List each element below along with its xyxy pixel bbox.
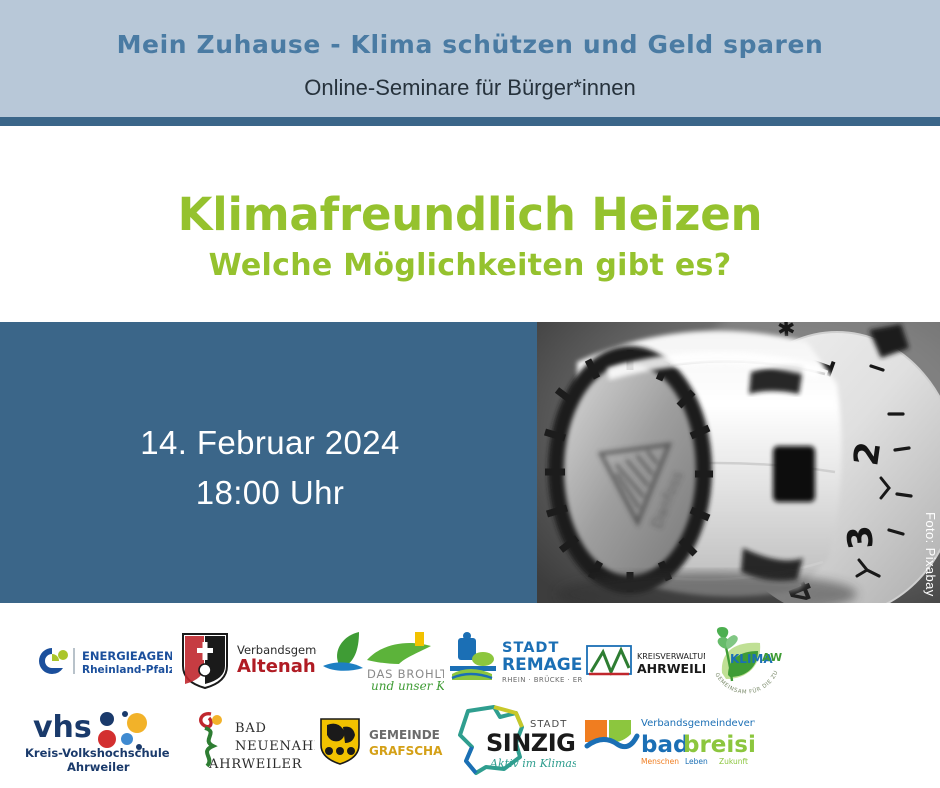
logo-text: SINZIG [486, 729, 575, 757]
logo-row-2: vhs Kreis-Volkshochschule Ahrweiler [18, 701, 786, 781]
event-date-text: 14. Februar 2024 18:00 Uhr [60, 418, 480, 518]
thermostat-photo: ✱ 1 2 3 4 [537, 322, 940, 603]
header-subtitle: Online-Seminare für Bürger*innen [0, 75, 940, 101]
logo-stadt-remagen: STADT REMAGEN RHEIN · BRÜCKE · ERLEBEN [444, 625, 582, 697]
logo-vg-bad-breisig: Verbandsgemeindeverwaltung bad breisig M… [577, 705, 757, 777]
logo-text: REMAGEN [502, 655, 582, 675]
logo-text: AW [762, 651, 782, 664]
logo-text: Zukunft [719, 757, 748, 766]
svg-text:3: 3 [840, 524, 882, 552]
header-title: Mein Zuhause - Klima schützen und Geld s… [0, 30, 940, 59]
logo-text: ENERGIEAGENTUR [82, 649, 172, 663]
logo-text: Verbandsgemeinde [237, 643, 317, 657]
logo-row-1: ENERGIEAGENTUR Rheinland-Pfalz Verbandsg… [18, 621, 786, 701]
logo-text: STADT [502, 640, 559, 656]
logo-text: AHRWEILER [208, 757, 303, 772]
poster: Mein Zuhause - Klima schützen und Geld s… [0, 0, 940, 788]
logo-klima-aw: KLIMA AW GEMEINSAM FÜR DIE ZUKUNFT [705, 625, 786, 697]
event-time: 18:00 Uhr [60, 468, 480, 518]
logo-text: AHRWEILER [637, 661, 705, 676]
logo-text: RHEIN · BRÜCKE · ERLEBEN [502, 675, 582, 684]
seminar-main-title: Klimafreundlich Heizen [0, 188, 940, 241]
logo-das-brohltal: DAS BROHLTAL und unser Klima [318, 625, 444, 697]
logo-text: Rheinland-Pfalz [82, 664, 172, 676]
logo-text: KREISVERWALTUNG [637, 652, 705, 661]
event-date: 14. Februar 2024 [60, 418, 480, 468]
logo-text: Altenahr [237, 656, 317, 677]
logo-text: vhs [33, 710, 92, 745]
logo-stadt-sinzig: STADT SINZIG Aktiv im Klimaschutz [444, 705, 577, 777]
logo-text: breisig [683, 732, 755, 758]
logo-text: Verbandsgemeindeverwaltung [641, 718, 755, 729]
logo-text: GRAFSCHAFT [369, 744, 443, 758]
logo-text: BAD [235, 721, 267, 736]
logo-verbandsgemeinde-altenahr: Verbandsgemeinde Altenahr [176, 625, 319, 697]
logo-text: Kreis-Volkshochschule [25, 746, 170, 760]
title-zone: Klimafreundlich Heizen Welche Möglichkei… [0, 126, 940, 322]
logo-text: Ahrweiler [67, 760, 130, 774]
mid-band: 14. Februar 2024 18:00 Uhr [0, 322, 940, 603]
photo-credit: Foto: Pixabay [923, 512, 938, 597]
seminar-sub-title: Welche Möglichkeiten gibt es? [0, 248, 940, 283]
logo-grid: ENERGIEAGENTUR Rheinland-Pfalz Verbandsg… [18, 621, 786, 781]
logo-vhs-kreis-volkshochschule-ahrweiler: vhs Kreis-Volkshochschule Ahrweiler [18, 705, 181, 777]
logo-text: Leben [685, 757, 708, 766]
header-divider-rule [0, 117, 940, 126]
sponsor-logo-footer: ENERGIEAGENTUR Rheinland-Pfalz Verbandsg… [0, 603, 940, 788]
logo-text: und unser Klima [371, 679, 444, 692]
logo-energieagentur-rheinland-pfalz: ENERGIEAGENTUR Rheinland-Pfalz [18, 625, 176, 697]
logo-text: GEMEINDE [369, 728, 440, 742]
logo-text: Aktiv im Klimaschutz [489, 757, 576, 770]
event-date-panel: 14. Februar 2024 18:00 Uhr [0, 322, 537, 603]
logo-bad-neuenahr-ahrweiler: BAD NEUENAHR AHRWEILER [181, 705, 316, 777]
header-band: Mein Zuhause - Klima schützen und Geld s… [0, 0, 940, 117]
logo-gemeinde-grafschaft: GEMEINDE GRAFSCHAFT [316, 705, 444, 777]
logo-text: Menschen [641, 757, 679, 766]
logo-text: NEUENAHR [235, 739, 315, 754]
logo-kreisverwaltung-ahrweiler: KREISVERWALTUNG AHRWEILER [582, 625, 705, 697]
